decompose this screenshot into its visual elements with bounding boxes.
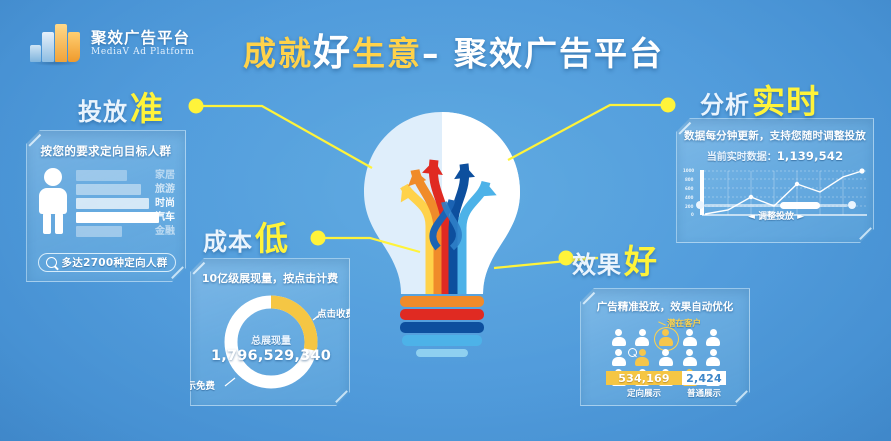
person-icon <box>609 329 628 347</box>
stat-normal-caption: 普通展示 <box>682 387 726 399</box>
realtime-value: 1,139,542 <box>777 149 844 163</box>
interest-bar-row: 家居 <box>76 170 175 181</box>
slider-handle[interactable] <box>780 202 820 209</box>
panel-realtime: 数据每分钟更新，支持您随时调整投放 当前实时数据：1,139,542 1000 … <box>676 118 874 243</box>
interest-bar-row: 汽车 <box>76 212 175 223</box>
magnifier-icon <box>46 257 57 268</box>
section-sub-label: 分析 <box>700 91 750 119</box>
section-key-label: 低 <box>255 219 289 258</box>
person-icon-highlighted <box>633 349 652 367</box>
panel-targeting: 按您的要求定向目标人群 家居 旅游 时尚 <box>26 130 186 282</box>
bar-chart-logo-icon <box>30 22 82 66</box>
interest-bar-label: 汽车 <box>155 212 175 223</box>
panel-effect: 广告精准投放，效果自动优化 潜在客户 534,169 2,424 定向展示 普通 <box>580 288 750 406</box>
panel-cost-title: 10亿级展现量，按点击计费 <box>191 270 349 286</box>
section-key-label: 实时 <box>752 82 820 121</box>
panel-realtime-title: 数据每分钟更新，支持您随时调整投放 <box>677 128 873 143</box>
person-icon-highlighted <box>656 329 675 347</box>
slider-caption: ◄ 调整投放 ► <box>677 209 875 222</box>
person-icon <box>704 349 723 367</box>
realtime-line-chart: 1000 800 600 400 200 0 <box>677 165 875 223</box>
section-heading-realtime: 分析实时 <box>700 85 820 118</box>
person-icon <box>37 168 69 234</box>
person-icon <box>680 349 699 367</box>
effect-stat-bars: 534,169 2,424 <box>606 371 726 385</box>
person-icon <box>609 349 628 367</box>
section-sub-label: 成本 <box>203 228 253 256</box>
stat-targeted-caption: 定向展示 <box>606 387 682 399</box>
title-part-2: 好 <box>313 31 352 74</box>
section-key-label: 好 <box>624 242 658 281</box>
panel-cost: 10亿级展现量，按点击计费 总展现量 1,796,529,340 点击收费 展示… <box>190 258 350 406</box>
person-icon <box>633 329 652 347</box>
stat-normal-value: 2,424 <box>682 371 726 385</box>
svg-text:400: 400 <box>685 195 694 200</box>
brand-logo[interactable]: 聚效广告平台 MediaV Ad Platform <box>30 22 194 66</box>
realtime-value-row: 当前实时数据：1,139,542 <box>677 148 873 163</box>
interest-bar-row: 旅游 <box>76 184 175 195</box>
person-icon <box>704 329 723 347</box>
budget-slider[interactable] <box>696 201 856 209</box>
stat-targeted-value: 534,169 <box>606 371 682 385</box>
section-key-label: 准 <box>130 89 164 128</box>
interest-bar-list: 家居 旅游 时尚 汽车 金融 <box>76 168 175 237</box>
interest-bar-label: 时尚 <box>155 198 175 209</box>
page-title: 成就好生意– 聚效广告平台 <box>243 22 664 76</box>
effect-stat-captions: 定向展示 普通展示 <box>606 387 726 399</box>
title-part-3: 生意 <box>352 34 422 73</box>
interest-bar-label: 家居 <box>155 170 175 181</box>
targeting-count-button[interactable]: 多达2700种定向人群 <box>38 253 176 272</box>
interest-bar-label: 金融 <box>155 226 175 237</box>
potential-customer-label: 潜在客户 <box>667 317 701 329</box>
connector-dot-zhun <box>189 99 204 114</box>
title-part-4: – 聚效广告平台 <box>422 34 664 73</box>
donut-label-free: 展示免费 <box>177 378 215 392</box>
interest-bar-label: 旅游 <box>155 184 175 195</box>
panel-effect-title: 广告精准投放，效果自动优化 <box>581 299 749 314</box>
connector-dot-shishi <box>661 98 676 113</box>
realtime-value-label: 当前实时数据： <box>707 152 777 163</box>
section-heading-cost: 成本低 <box>203 222 289 255</box>
svg-text:1000: 1000 <box>683 168 694 173</box>
section-sub-label: 投放 <box>78 98 128 126</box>
interest-bar-row: 时尚 <box>76 198 175 209</box>
slider-end-right[interactable] <box>848 201 856 209</box>
person-icon <box>680 329 699 347</box>
section-sub-label: 效果 <box>572 251 622 279</box>
slider-end-left[interactable] <box>696 201 704 209</box>
svg-text:800: 800 <box>685 177 694 182</box>
infographic-canvas: 聚效广告平台 MediaV Ad Platform 成就好生意– 聚效广告平台 <box>0 0 891 441</box>
targeting-count-label: 多达2700种定向人群 <box>61 255 167 270</box>
donut-label-paid: 点击收费 <box>317 306 355 320</box>
brand-name-en: MediaV Ad Platform <box>91 48 194 57</box>
connector-zhun <box>196 106 372 168</box>
panel-targeting-title: 按您的要求定向目标人群 <box>27 143 185 159</box>
interest-bar-row: 金融 <box>76 226 175 237</box>
connector-shishi <box>508 105 668 160</box>
title-part-1: 成就 <box>243 34 313 73</box>
section-heading-effect: 效果好 <box>572 245 658 278</box>
person-icon <box>656 349 675 367</box>
svg-text:600: 600 <box>685 186 694 191</box>
brand-name-cn: 聚效广告平台 <box>91 30 194 46</box>
connector-dot-di <box>311 231 326 246</box>
section-heading-targeting: 投放准 <box>78 92 164 125</box>
lightbulb-icon <box>352 108 532 368</box>
donut-chart: 总展现量 1,796,529,340 点击收费 展示免费 <box>191 286 351 398</box>
